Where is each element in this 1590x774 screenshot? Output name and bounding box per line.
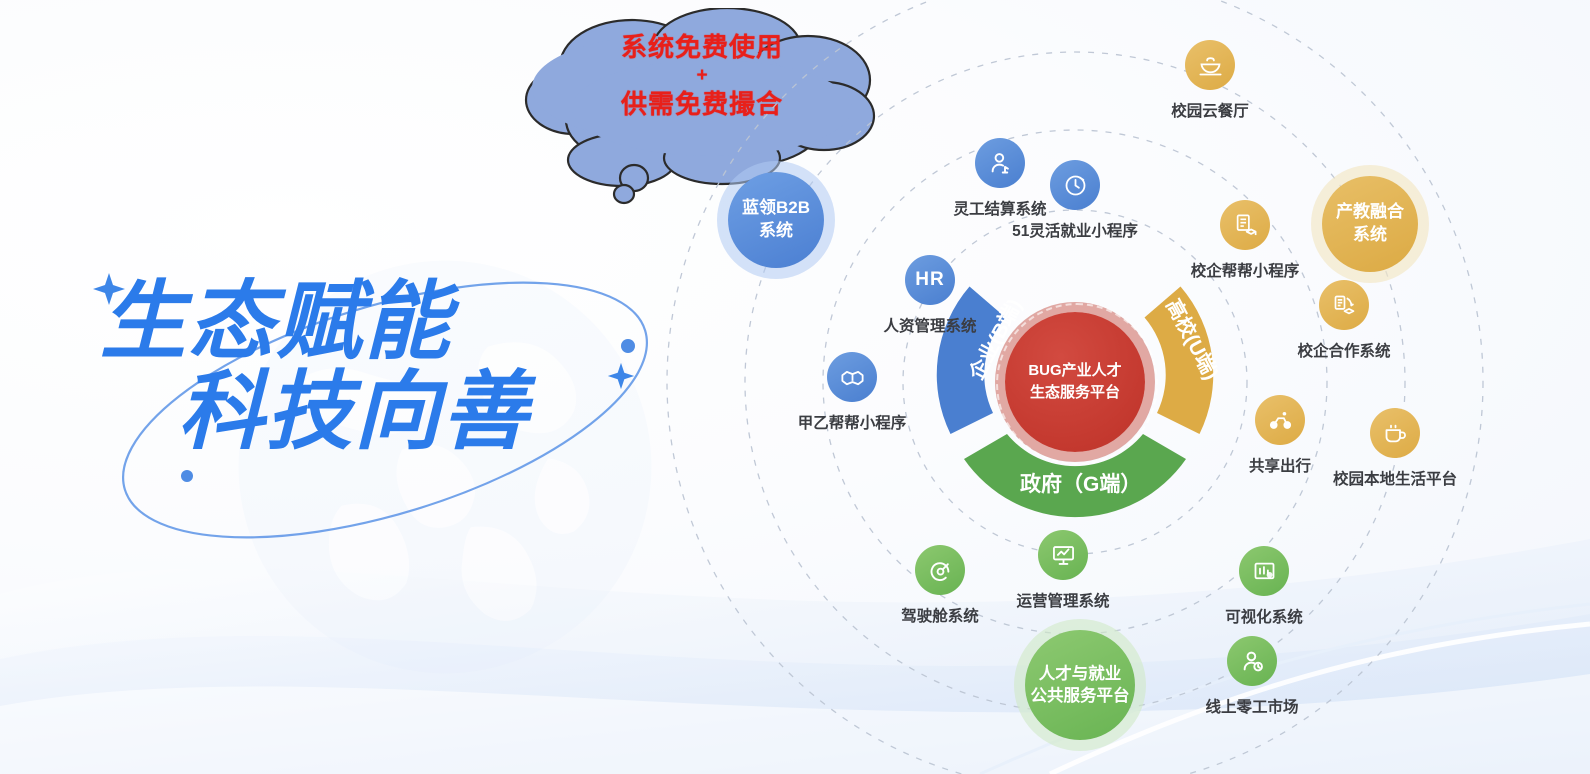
ecosystem-diagram: 企业(B端) 高校(U端) 政府（G端） BUG产业人才 生态服务平台 蓝领B2… [620, 0, 1590, 774]
hr-text-icon: HR [905, 255, 955, 305]
node-campus-cloud-canteen-label: 校园云餐厅 [1135, 99, 1285, 121]
bicycle-icon [1255, 395, 1305, 445]
hub-talent-employment-line-1: 人才与就业 [1031, 663, 1130, 685]
hub-talent-employment[interactable]: 人才与就业 公共服务平台 [1025, 630, 1135, 740]
handshake-icon [827, 352, 877, 402]
node-online-gig-market-label: 线上零工市场 [1162, 695, 1342, 717]
node-school-enterprise-app-label: 校企帮帮小程序 [1145, 259, 1345, 281]
coffee-cup-icon [1370, 408, 1420, 458]
page-title: 生态赋能 科技向善 [100, 280, 700, 455]
node-campus-local-life-label: 校园本地生活平台 [1300, 467, 1490, 489]
hub-blue-collar-b2b[interactable]: 蓝领B2B 系统 [728, 172, 824, 268]
core-line-2: 生态服务平台 [1028, 382, 1121, 404]
orbit-ring-decoration [95, 270, 675, 550]
hub-industry-education-line-1: 产教融合 [1336, 201, 1404, 224]
hub-industry-education-line-2: 系统 [1336, 224, 1404, 247]
arc-label-g-end: 政府（G端） [1020, 468, 1141, 498]
headline-line-1: 生态赋能 [100, 280, 700, 364]
node-party-help-miniapp-label: 甲乙帮帮小程序 [752, 411, 952, 433]
core-platform-text: BUG产业人才 生态服务平台 [1028, 360, 1121, 404]
document-graduation-icon [1220, 200, 1270, 250]
presentation-chart-icon [1038, 530, 1088, 580]
node-hr-management-label: 人资管理系统 [840, 314, 1020, 336]
hub-blue-collar-line-1: 蓝领B2B [742, 197, 810, 220]
document-refresh-graduation-icon [1319, 280, 1369, 330]
core-line-1: BUG产业人才 [1028, 360, 1121, 382]
infographic-canvas: 生态赋能 科技向善 系统免费使用 [0, 0, 1590, 774]
core-platform-node[interactable]: BUG产业人才 生态服务平台 [1005, 312, 1145, 452]
food-bowl-icon [1185, 40, 1235, 90]
sparkle-icon [92, 272, 126, 306]
hub-talent-employment-line-2: 公共服务平台 [1031, 685, 1130, 707]
node-school-enterprise-sys-label: 校企合作系统 [1264, 339, 1424, 361]
hub-blue-collar-line-2: 系统 [742, 220, 810, 243]
chart-monitor-icon [1239, 546, 1289, 596]
node-visualization-system-label: 可视化系统 [1184, 605, 1344, 627]
person-clock-icon [1227, 636, 1277, 686]
clock-timer-icon [1050, 160, 1100, 210]
node-operations-management-label: 运营管理系统 [973, 589, 1153, 611]
globe-watermark-icon [230, 252, 660, 682]
dashboard-gauge-icon [915, 545, 965, 595]
